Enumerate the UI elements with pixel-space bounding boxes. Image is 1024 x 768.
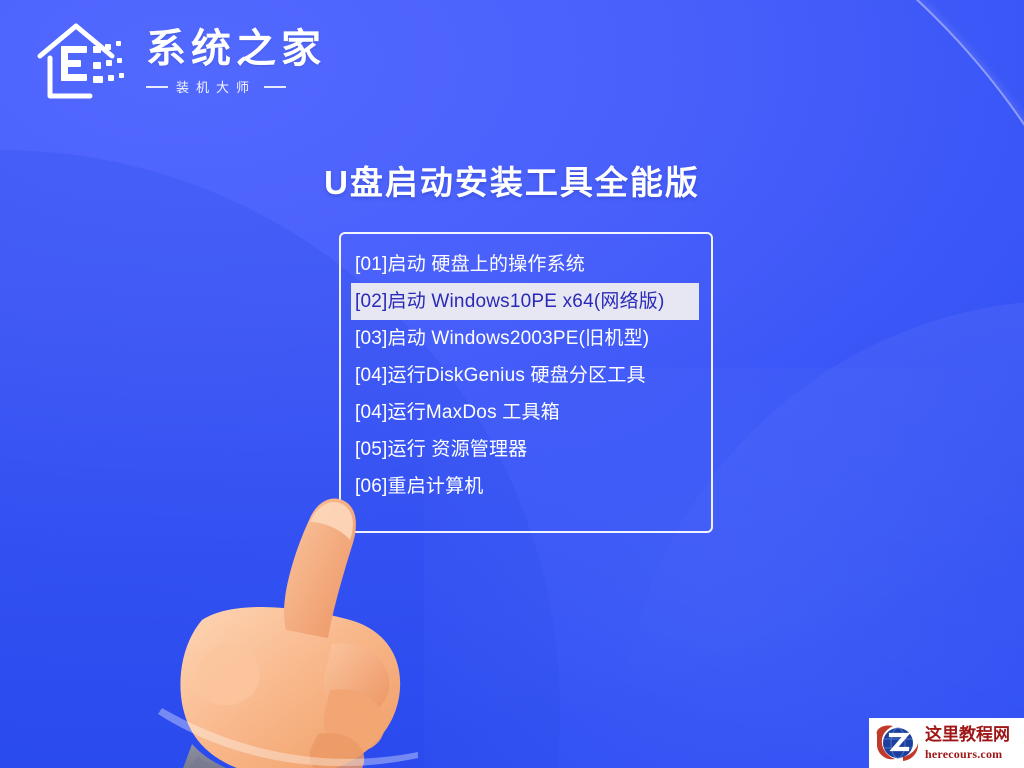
watermark: 这里教程网 herecours.com xyxy=(869,718,1024,768)
brand-tagline: 装机大师 xyxy=(176,77,256,96)
brand-tagline-row: 装机大师 xyxy=(146,77,326,96)
menu-item-04-maxdos[interactable]: [04]运行MaxDos 工具箱 xyxy=(341,394,711,431)
menu-item-04-diskgenius[interactable]: [04]运行DiskGenius 硬盘分区工具 xyxy=(341,357,711,394)
boot-menu-screen: 系统之家 装机大师 U盘启动安装工具全能版 [01]启动 硬盘上的操作系统 [0… xyxy=(0,0,1024,768)
brand-text: 系统之家 装机大师 xyxy=(146,24,326,96)
menu-item-01[interactable]: [01]启动 硬盘上的操作系统 xyxy=(341,246,711,283)
z-globe-icon xyxy=(873,721,921,765)
house-pixel-logo-icon xyxy=(34,16,132,104)
brand-name: 系统之家 xyxy=(146,28,326,70)
tagline-rule-right xyxy=(264,86,286,88)
page-title: U盘启动安装工具全能版 xyxy=(0,156,1024,204)
menu-item-02[interactable]: [02]启动 Windows10PE x64(网络版) xyxy=(351,283,699,320)
pointing-hand-icon xyxy=(118,452,448,768)
watermark-domain: herecours.com xyxy=(925,748,1010,760)
brand-logo: 系统之家 装机大师 xyxy=(34,16,326,104)
watermark-site-name: 这里教程网 xyxy=(925,727,1010,744)
tagline-rule-left xyxy=(146,86,168,88)
watermark-text: 这里教程网 herecours.com xyxy=(925,727,1010,760)
menu-item-03[interactable]: [03]启动 Windows2003PE(旧机型) xyxy=(341,320,711,357)
